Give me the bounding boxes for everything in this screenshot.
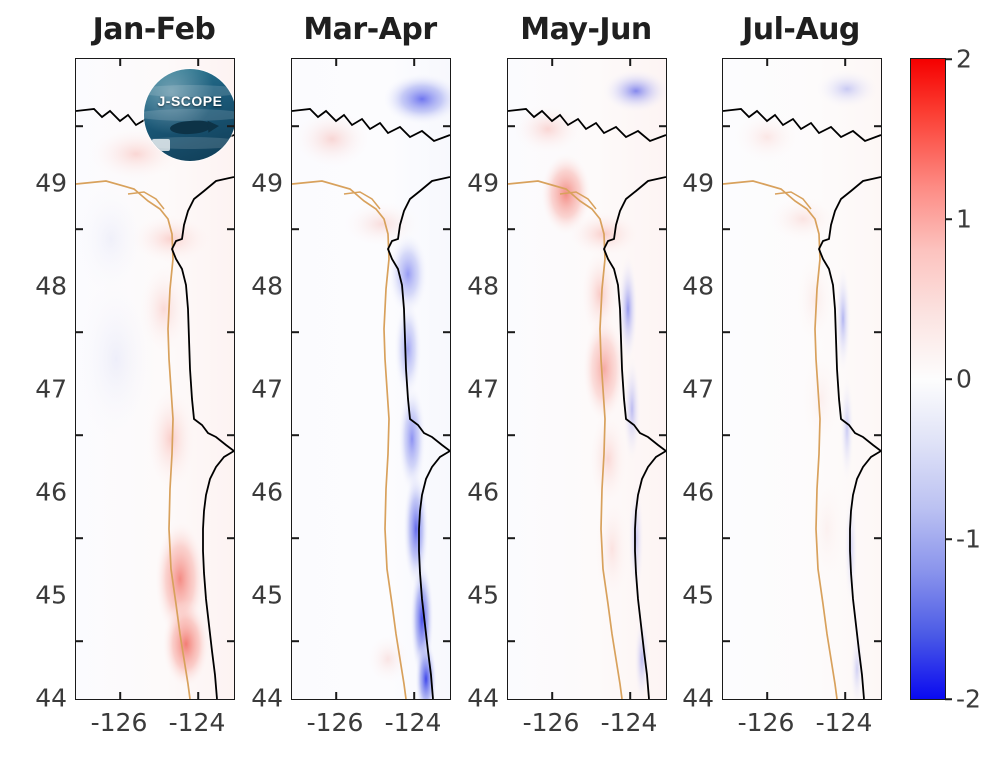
- y-tick-label: 45: [467, 581, 499, 610]
- y-tick-label: 49: [682, 169, 714, 198]
- panel-may-jun: May-Jun: [507, 58, 665, 698]
- colorbar-tick-label: 1: [956, 205, 972, 234]
- y-tick-label: 44: [682, 684, 714, 713]
- colorbar-tick-label: -2: [956, 685, 981, 714]
- y-tick-label: 45: [35, 581, 67, 610]
- x-tick-label: -126: [738, 708, 795, 737]
- y-tick-label: 48: [467, 272, 499, 301]
- y-tick-label: 44: [251, 684, 283, 713]
- map-field: [723, 59, 881, 699]
- y-tick-label: 47: [682, 375, 714, 404]
- y-tick-label: 49: [35, 169, 67, 198]
- colorbar-tick-label: 2: [956, 45, 972, 74]
- figure-root: Jan-Feb: [0, 0, 1000, 772]
- y-tick-label: 45: [682, 581, 714, 610]
- map-axes[interactable]: [507, 58, 667, 700]
- x-tick-label: -124: [816, 708, 873, 737]
- panel-title: May-Jun: [485, 12, 687, 47]
- colorbar-tick-label: 0: [956, 365, 972, 394]
- x-tick-label: -126: [307, 708, 364, 737]
- map-axes[interactable]: J-SCOPE: [75, 58, 235, 700]
- y-tick-label: 46: [35, 478, 67, 507]
- x-tick-label: -124: [385, 708, 442, 737]
- x-tick-label: -126: [523, 708, 580, 737]
- panel-title: Jan-Feb: [53, 12, 255, 47]
- y-tick-label: 47: [467, 375, 499, 404]
- y-tick-label: 49: [467, 169, 499, 198]
- y-tick-label: 45: [251, 581, 283, 610]
- y-tick-label: 48: [682, 272, 714, 301]
- map-field: [508, 59, 666, 699]
- map-field: [292, 59, 450, 699]
- panel-jan-feb: Jan-Feb: [75, 58, 233, 698]
- y-tick-label: 47: [251, 375, 283, 404]
- map-axes[interactable]: [291, 58, 451, 700]
- y-tick-label: 44: [467, 684, 499, 713]
- y-tick-label: 48: [35, 272, 67, 301]
- logo-text: J-SCOPE: [144, 93, 235, 109]
- map-axes[interactable]: [722, 58, 882, 700]
- colorbar-tick-label: -1: [956, 525, 981, 554]
- y-tick-label: 46: [467, 478, 499, 507]
- x-tick-label: -124: [601, 708, 658, 737]
- x-tick-label: -126: [91, 708, 148, 737]
- x-tick-label: -124: [169, 708, 226, 737]
- y-tick-label: 44: [35, 684, 67, 713]
- panel-title: Jul-Aug: [700, 12, 902, 47]
- colorbar: 2 1 0 -1 -2: [910, 58, 946, 700]
- jscope-logo: J-SCOPE: [144, 69, 235, 161]
- panel-jul-aug: Jul-Aug: [722, 58, 880, 698]
- y-tick-label: 47: [35, 375, 67, 404]
- y-tick-label: 46: [682, 478, 714, 507]
- y-tick-label: 49: [251, 169, 283, 198]
- panel-title: Mar-Apr: [269, 12, 471, 47]
- y-tick-label: 48: [251, 272, 283, 301]
- panel-mar-apr: Mar-Apr: [291, 58, 449, 698]
- y-tick-label: 46: [251, 478, 283, 507]
